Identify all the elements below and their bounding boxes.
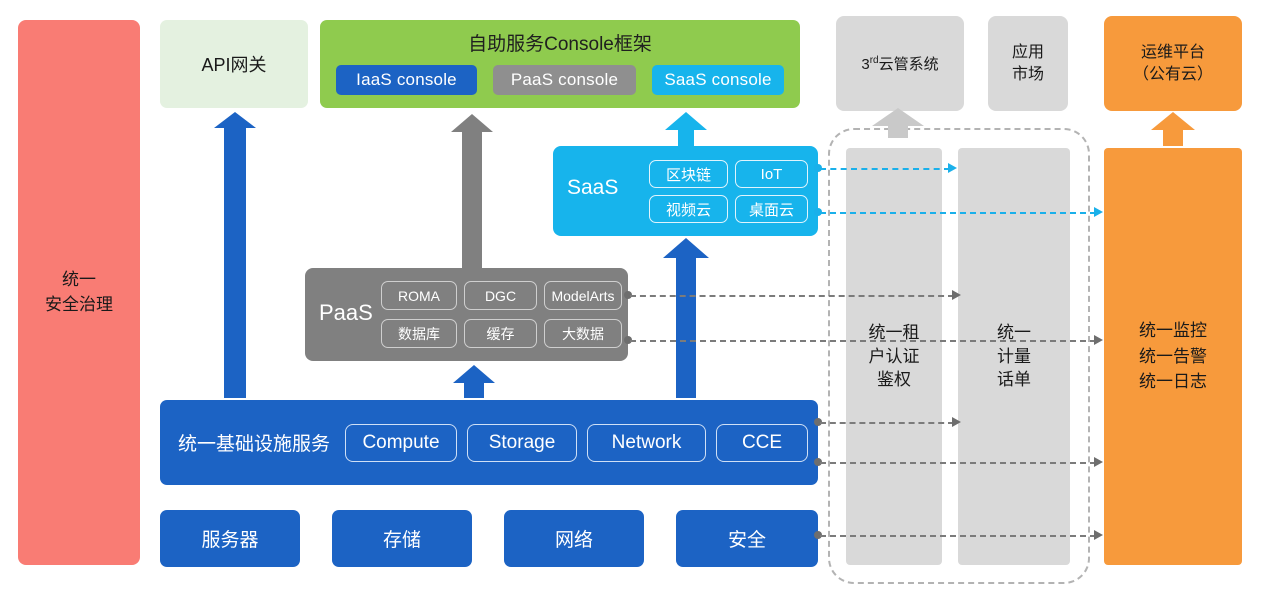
connector-arrowhead-saas-metering: [948, 163, 957, 173]
resource-storage[interactable]: 存储: [332, 510, 472, 567]
paas-service-database[interactable]: 数据库: [381, 319, 457, 348]
connector-saas-to-ops: [820, 212, 1096, 214]
api-gateway-box: API网关: [160, 20, 308, 108]
paas-service-bigdata[interactable]: 大数据: [544, 319, 622, 348]
connector-iaas-to-auth: [820, 422, 954, 424]
unified-metering-billing-label: 统一计量话单: [997, 321, 1031, 392]
arrow-iaas-to-paas: [453, 365, 495, 398]
unified-security-governance-label: 统一安全治理: [45, 268, 113, 317]
ops-platform-public-cloud-box: 运维平台（公有云）: [1104, 16, 1242, 111]
connector-iaas-to-ops: [820, 462, 1096, 464]
paas-box: PaaS ROMA DGC ModelArts 数据库 缓存 大数据: [305, 268, 628, 361]
architecture-diagram: 统一安全治理 API网关 自助服务Console框架 IaaS console …: [0, 0, 1265, 605]
connector-saas-to-metering: [820, 168, 950, 170]
saas-service-blockchain[interactable]: 区块链: [649, 160, 728, 188]
iaas-label: 统一基础设施服务: [178, 429, 330, 456]
connector-arrowhead-iaas-ops: [1094, 457, 1103, 467]
ops-platform-monitoring-panel: 统一监控统一告警统一日志: [1104, 148, 1242, 565]
connector-arrowhead-security-ops: [1094, 530, 1103, 540]
paas-console-chip[interactable]: PaaS console: [493, 65, 636, 95]
ops-platform-label: 运维平台（公有云）: [1133, 42, 1213, 85]
saas-console-chip[interactable]: SaaS console: [652, 65, 784, 95]
arrow-iaas-to-api-gateway: [214, 112, 256, 398]
iaas-infrastructure-bar: 统一基础设施服务 Compute Storage Network CCE: [160, 400, 818, 485]
arrow-iaas-to-saas: [663, 238, 709, 398]
arrow-saas-to-console: [665, 112, 707, 146]
api-gateway-label: API网关: [201, 51, 266, 77]
iaas-service-storage[interactable]: Storage: [467, 424, 577, 462]
connector-paas-to-auth: [630, 295, 954, 297]
paas-service-cache[interactable]: 缓存: [464, 319, 537, 348]
arrow-ops-to-ops-platform: [1151, 112, 1195, 146]
saas-box: SaaS 区块链 IoT 视频云 桌面云: [553, 146, 818, 236]
arrow-paas-to-console: [451, 114, 493, 268]
paas-label: PaaS: [319, 300, 373, 326]
iaas-service-compute[interactable]: Compute: [345, 424, 457, 462]
third-party-cloud-mgmt-label: 3rd云管系统: [861, 53, 938, 74]
connector-paas-to-ops: [630, 340, 1096, 342]
app-market-box: 应用市场: [988, 16, 1068, 111]
connector-security-to-ops: [820, 535, 1096, 537]
self-service-console-frame: 自助服务Console框架 IaaS console PaaS console …: [320, 20, 800, 108]
iaas-console-chip[interactable]: IaaS console: [336, 65, 477, 95]
iaas-service-cce[interactable]: CCE: [716, 424, 808, 462]
console-frame-title: 自助服务Console框架: [320, 29, 800, 56]
unified-metering-billing-column: 统一计量话单: [958, 148, 1070, 565]
saas-service-iot[interactable]: IoT: [735, 160, 808, 188]
iaas-service-network[interactable]: Network: [587, 424, 706, 462]
unified-tenant-auth-label: 统一租户认证鉴权: [869, 321, 920, 392]
unified-tenant-auth-column: 统一租户认证鉴权: [846, 148, 942, 565]
connector-arrowhead-iaas-auth: [952, 417, 961, 427]
paas-service-modelarts[interactable]: ModelArts: [544, 281, 622, 310]
third-party-cloud-mgmt-box: 3rd云管系统: [836, 16, 964, 111]
connector-arrowhead-paas-auth: [952, 290, 961, 300]
saas-service-video-cloud[interactable]: 视频云: [649, 195, 728, 223]
connector-arrowhead-paas-ops: [1094, 335, 1103, 345]
ops-monitoring-label: 统一监控统一告警统一日志: [1139, 318, 1207, 395]
resource-server[interactable]: 服务器: [160, 510, 300, 567]
saas-label: SaaS: [567, 176, 618, 200]
saas-service-desktop-cloud[interactable]: 桌面云: [735, 195, 808, 223]
paas-service-roma[interactable]: ROMA: [381, 281, 457, 310]
unified-security-governance-panel: 统一安全治理: [18, 20, 140, 565]
paas-service-dgc[interactable]: DGC: [464, 281, 537, 310]
ordinal-superscript: rd: [870, 55, 879, 66]
resource-network[interactable]: 网络: [504, 510, 644, 567]
resource-security[interactable]: 安全: [676, 510, 818, 567]
app-market-label: 应用市场: [1012, 42, 1044, 85]
connector-arrowhead-saas-ops: [1094, 207, 1103, 217]
